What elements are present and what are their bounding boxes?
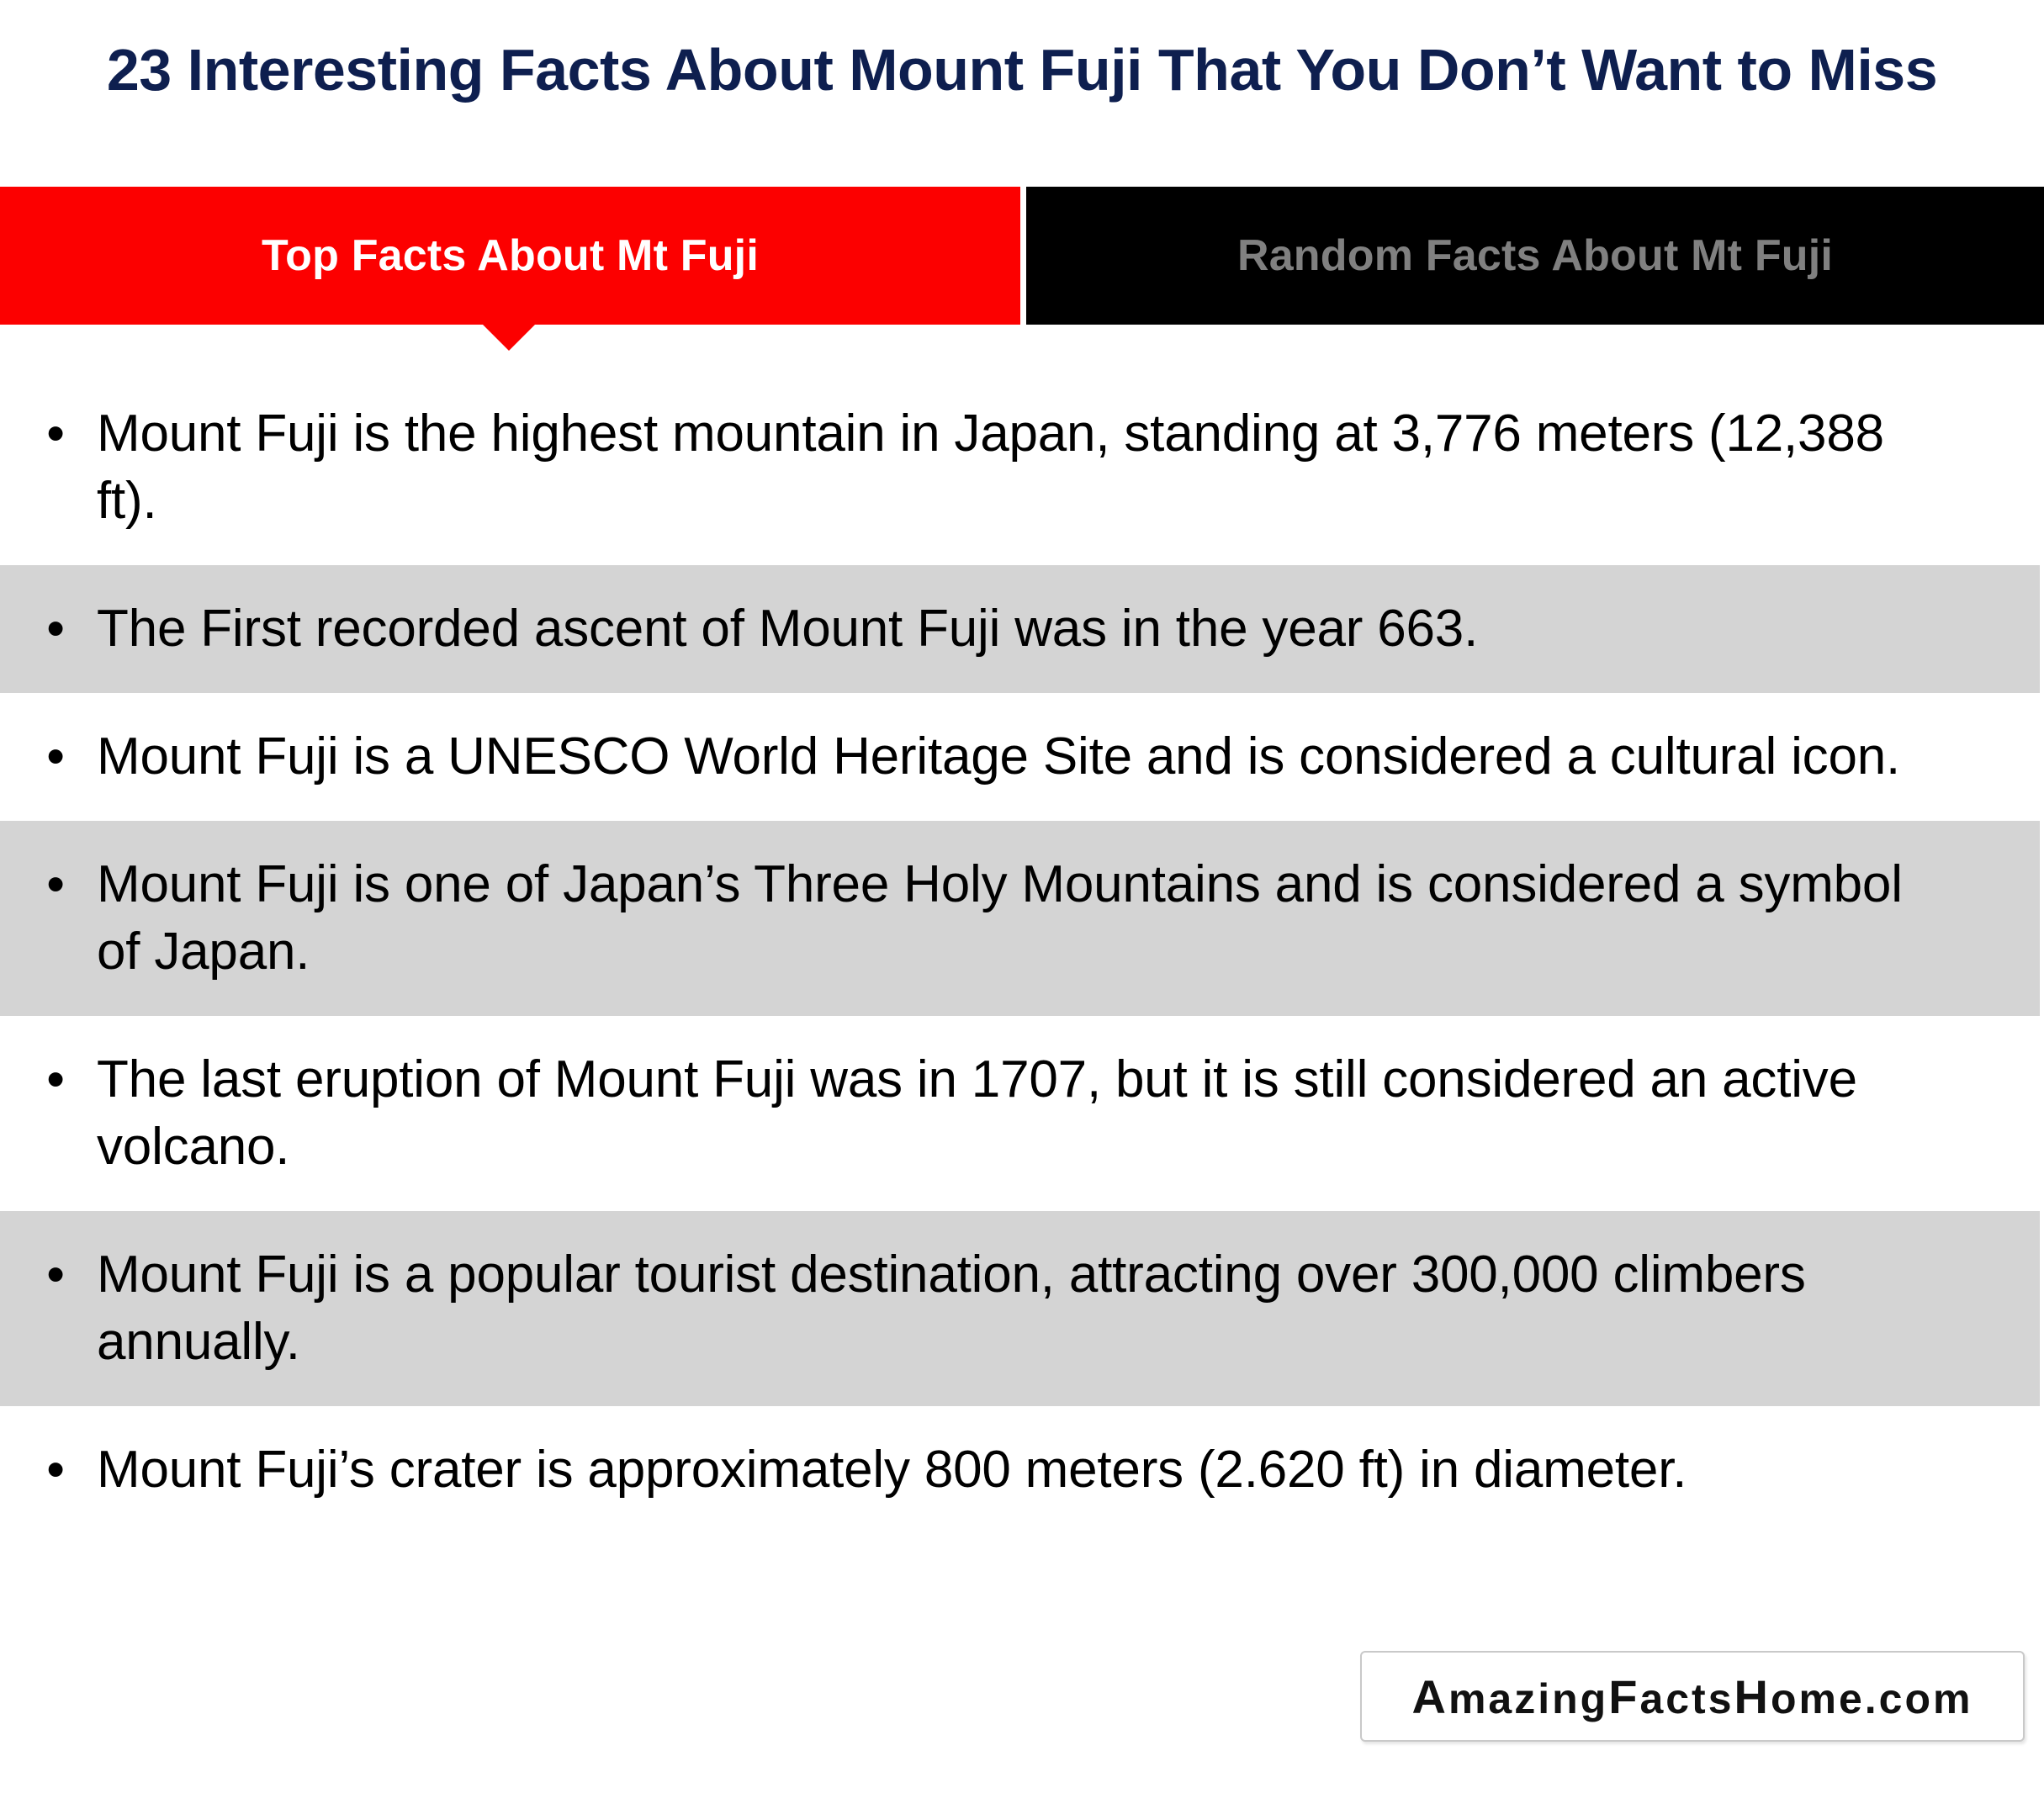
bullet-icon: • xyxy=(0,723,97,791)
list-item: • Mount Fuji is one of Japan’s Three Hol… xyxy=(0,821,2040,1016)
fact-text: Mount Fuji is the highest mountain in Ja… xyxy=(97,400,2040,535)
watermark-badge: AmazingFactsHome.com xyxy=(1360,1651,2025,1742)
list-item: • Mount Fuji is a UNESCO World Heritage … xyxy=(0,693,2040,821)
bullet-icon: • xyxy=(0,1046,97,1113)
tab-bar: Top Facts About Mt Fuji Random Facts Abo… xyxy=(0,187,2044,325)
list-item: • The last eruption of Mount Fuji was in… xyxy=(0,1016,2040,1211)
fact-text: Mount Fuji’s crater is approximately 800… xyxy=(97,1436,2040,1504)
list-item: • Mount Fuji’s crater is approximately 8… xyxy=(0,1406,2040,1534)
page-title: 23 Interesting Facts About Mount Fuji Th… xyxy=(0,37,2044,103)
bullet-icon: • xyxy=(0,1436,97,1504)
fact-text: The last eruption of Mount Fuji was in 1… xyxy=(97,1046,2040,1181)
fact-text: The First recorded ascent of Mount Fuji … xyxy=(97,595,2040,663)
tab-top-facts-label: Top Facts About Mt Fuji xyxy=(262,230,759,281)
fact-text: Mount Fuji is one of Japan’s Three Holy … xyxy=(97,851,2040,986)
bullet-icon: • xyxy=(0,595,97,663)
bullet-icon: • xyxy=(0,1241,97,1309)
list-item: • Mount Fuji is the highest mountain in … xyxy=(0,370,2040,565)
list-item: • The First recorded ascent of Mount Fuj… xyxy=(0,565,2040,693)
tab-top-facts[interactable]: Top Facts About Mt Fuji xyxy=(0,187,1020,325)
fact-text: Mount Fuji is a popular tourist destinat… xyxy=(97,1241,2040,1376)
bullet-icon: • xyxy=(0,400,97,468)
facts-list: • Mount Fuji is the highest mountain in … xyxy=(0,370,2044,1534)
fact-text: Mount Fuji is a UNESCO World Heritage Si… xyxy=(97,723,2040,791)
list-item: • Mount Fuji is a popular tourist destin… xyxy=(0,1211,2040,1406)
watermark-text: AmazingFactsHome.com xyxy=(1412,1669,1973,1724)
bullet-icon: • xyxy=(0,851,97,918)
tab-random-facts[interactable]: Random Facts About Mt Fuji xyxy=(1026,187,2044,325)
tab-random-facts-label: Random Facts About Mt Fuji xyxy=(1237,230,1833,281)
active-tab-pointer-icon xyxy=(483,325,535,351)
